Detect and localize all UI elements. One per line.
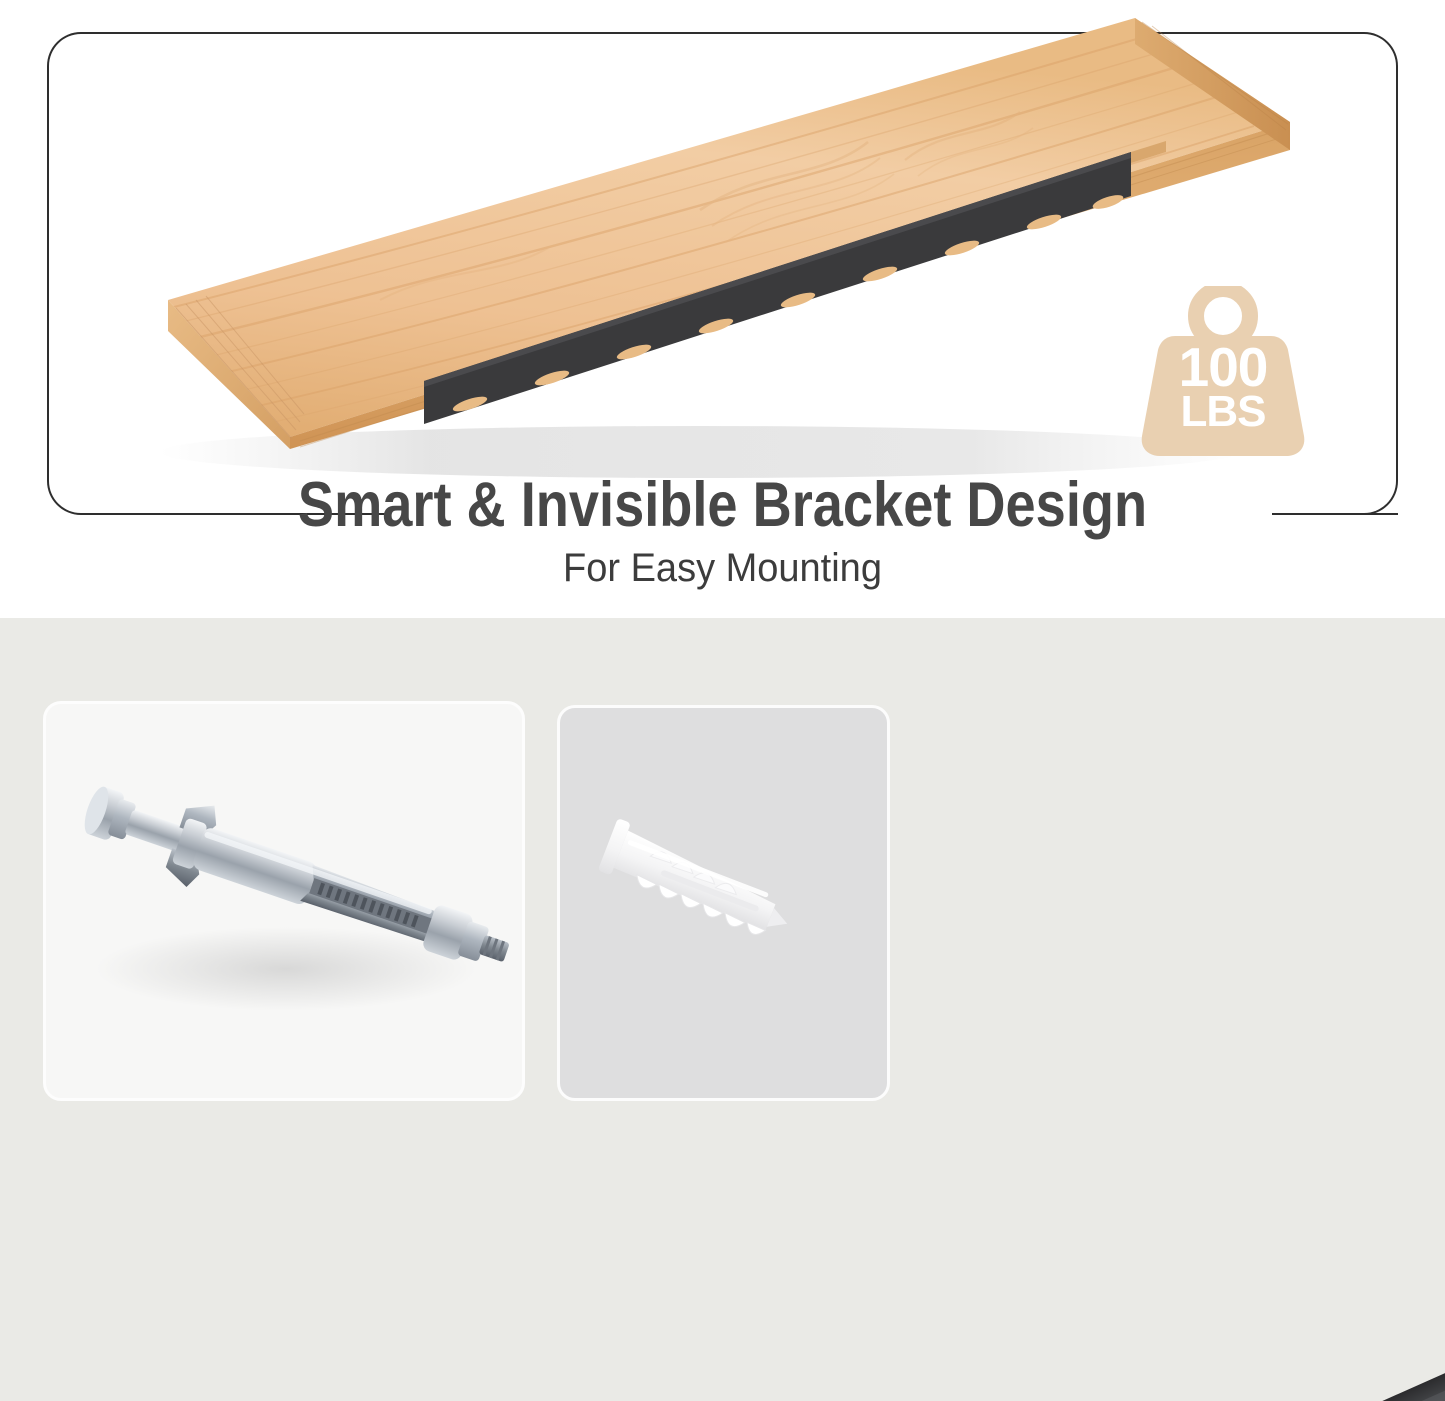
hero-section: 100 LBS Smart & Invisible Bracket Design… — [0, 0, 1445, 618]
plastic-wall-plug-icon — [560, 708, 887, 1098]
comparison-section: Upgrade Metal Anchors heavy-duty Made of… — [0, 618, 1445, 1401]
metal-wall-anchor-icon — [46, 704, 522, 1098]
frame-border-top — [160, 32, 1280, 72]
page-subtitle: For Easy Mounting — [36, 546, 1409, 590]
frame-border-left — [47, 32, 167, 515]
iron-pipe-photo — [840, 1318, 1445, 1401]
weight-capacity-badge: 100 LBS — [1128, 286, 1318, 458]
product-feature-image: 100 LBS Smart & Invisible Bracket Design… — [0, 0, 1445, 1401]
weight-unit: LBS — [1128, 390, 1318, 434]
page-title: Smart & Invisible Bracket Design — [101, 472, 1344, 538]
metal-anchor-panel — [43, 701, 525, 1101]
plastic-anchor-panel — [557, 705, 890, 1101]
